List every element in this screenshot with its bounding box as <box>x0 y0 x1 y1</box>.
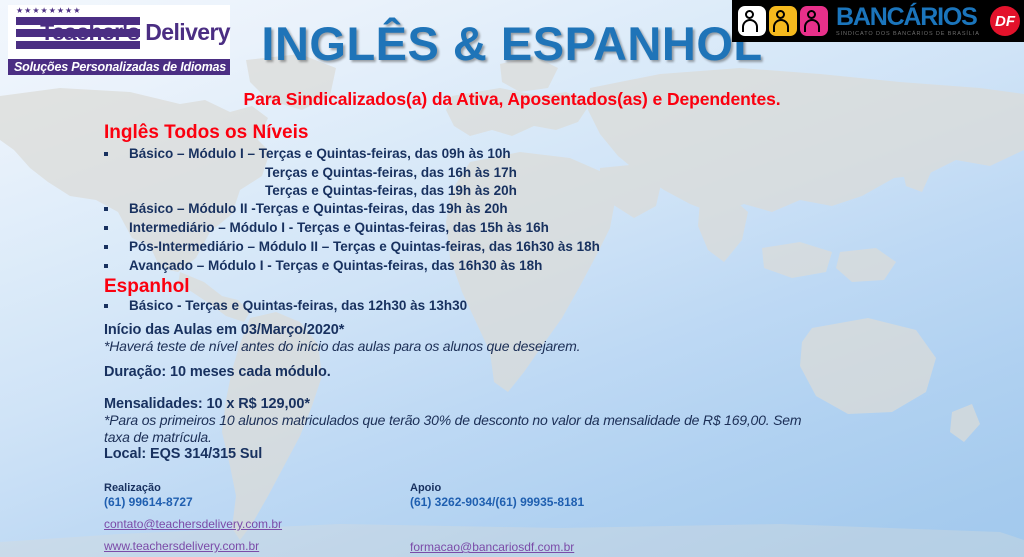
bullet-square-icon <box>104 245 108 249</box>
course-text: Básico – Módulo II -Terças e Quintas-fei… <box>129 200 508 218</box>
teachers-delivery-tagline: Soluções Personalizadas de Idiomas <box>8 59 230 75</box>
bullet-square-icon <box>104 152 108 156</box>
bancarios-title: BANCÁRIOS <box>836 5 980 30</box>
logo-top-row: ★★★★★★★★ Teacher's Delivery <box>8 5 230 59</box>
duration-label: Duração: 10 meses cada módulo. <box>104 364 331 380</box>
price-block: Mensalidades: 10 x R$ 129,00* *Para os p… <box>104 396 801 446</box>
list-item: Básico - Terças e Quintas-feiras, das 12… <box>104 297 467 315</box>
poster-background: ★★★★★★★★ Teacher's Delivery Soluções Per… <box>0 0 1024 557</box>
ingles-course-list: Básico – Módulo I – Terças e Quintas-fei… <box>104 145 600 276</box>
apoio-phone: (61) 3262-9034/(61) 99935-8181 <box>410 495 584 510</box>
start-date-block: Início das Aulas em 03/Março/2020* *Have… <box>104 322 580 355</box>
local-block: Local: EQS 314/315 Sul <box>104 446 262 462</box>
course-text: Pós-Intermediário – Módulo II – Terças e… <box>129 238 600 256</box>
section-heading-ingles: Inglês Todos os Níveis <box>104 122 308 144</box>
list-item: Básico – Módulo II -Terças e Quintas-fei… <box>104 200 600 218</box>
course-continuation: Terças e Quintas-feiras, das 19h às 20h <box>104 182 600 200</box>
flag-icon: ★★★★★★★★ <box>12 6 44 58</box>
realizacao-heading: Realização <box>104 482 282 495</box>
bullet-square-icon <box>104 264 108 268</box>
course-text: Básico - Terças e Quintas-feiras, das 12… <box>129 297 467 315</box>
course-text: Avançado – Módulo I - Terças e Quintas-f… <box>129 257 542 275</box>
espanhol-course-list: Básico - Terças e Quintas-feiras, das 12… <box>104 297 467 316</box>
duration-block: Duração: 10 meses cada módulo. <box>104 364 331 380</box>
course-text: Intermediário – Módulo I - Terças e Quin… <box>129 219 549 237</box>
footer-apoio: Apoio (61) 3262-9034/(61) 99935-8181 for… <box>410 482 584 555</box>
list-item: Básico – Módulo I – Terças e Quintas-fei… <box>104 145 600 163</box>
apoio-heading: Apoio <box>410 482 584 495</box>
bullet-square-icon <box>104 304 108 308</box>
bancarios-logo: BANCÁRIOS SINDICATO DOS BANCÁRIOS DE BRA… <box>732 0 1024 42</box>
list-item: Avançado – Módulo I - Terças e Quintas-f… <box>104 257 600 275</box>
teachers-delivery-logo: ★★★★★★★★ Teacher's Delivery Soluções Per… <box>8 5 230 75</box>
section-heading-espanhol: Espanhol <box>104 276 190 298</box>
df-badge: DF <box>990 6 1020 36</box>
bancarios-subtitle: SINDICATO DOS BANCÁRIOS DE BRASÍLIA <box>836 32 980 38</box>
course-text: Básico – Módulo I – Terças e Quintas-fei… <box>129 145 511 163</box>
poster-content: Inglês Todos os Níveis Básico – Módulo I… <box>0 0 1024 557</box>
price-label: Mensalidades: 10 x R$ 129,00* <box>104 396 801 412</box>
start-date-note: *Haverá teste de nível antes do início d… <box>104 338 580 355</box>
person-icon-pink <box>800 6 828 36</box>
footer-realizacao: Realização (61) 99614-8727 contato@teach… <box>104 482 282 554</box>
list-item: Pós-Intermediário – Módulo II – Terças e… <box>104 238 600 256</box>
start-date-label: Início das Aulas em 03/Março/2020* <box>104 322 580 338</box>
bullet-square-icon <box>104 207 108 211</box>
realizacao-website-link[interactable]: www.teachersdelivery.com.br <box>104 539 282 554</box>
stars-row: ★★★★★★★★ <box>16 6 140 15</box>
realizacao-phone: (61) 99614-8727 <box>104 495 282 510</box>
price-note-line2: taxa de matrícula. <box>104 429 801 446</box>
apoio-email-link[interactable]: formacao@bancariosdf.com.br <box>410 540 584 555</box>
list-item: Intermediário – Módulo I - Terças e Quin… <box>104 219 600 237</box>
local-label: Local: EQS 314/315 Sul <box>104 446 262 462</box>
person-icon-yellow <box>769 6 797 36</box>
course-continuation: Terças e Quintas-feiras, das 16h às 17h <box>104 164 600 182</box>
bullet-square-icon <box>104 226 108 230</box>
bancarios-text-block: BANCÁRIOS SINDICATO DOS BANCÁRIOS DE BRA… <box>836 5 980 38</box>
realizacao-email-link[interactable]: contato@teachersdelivery.com.br <box>104 517 282 532</box>
person-icon-white <box>738 6 766 36</box>
price-note-line1: *Para os primeiros 10 alunos matriculado… <box>104 412 801 429</box>
